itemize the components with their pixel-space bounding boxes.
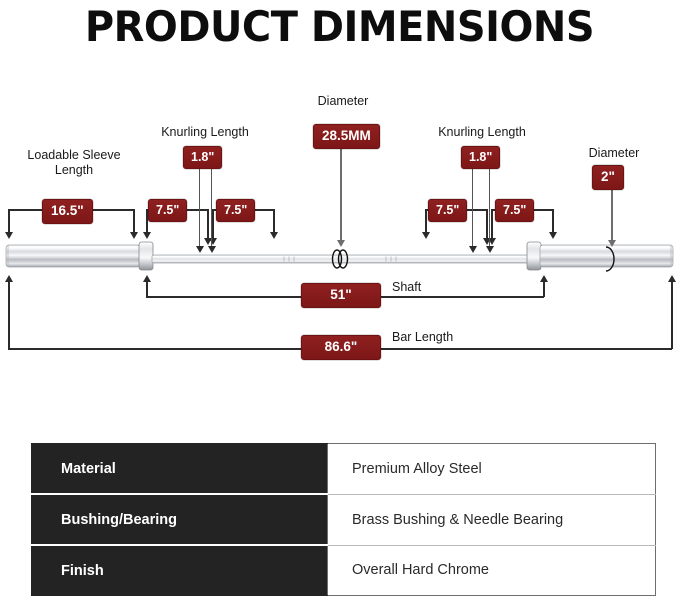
badge-knurl-left-inner: 7.5": [216, 199, 255, 222]
dim-ext-shaft-left: [146, 280, 148, 297]
leader-line-sleeve-diameter: [611, 189, 613, 244]
table-row: Bushing/Bearing Brass Bushing & Needle B…: [31, 494, 656, 545]
spec-label-material: Material: [31, 444, 328, 495]
dim-arrow-bar-left: [5, 275, 13, 282]
table-row: Material Premium Alloy Steel: [31, 444, 656, 495]
specifications-table: Material Premium Alloy Steel Bushing/Bea…: [31, 443, 656, 596]
spec-value-material: Premium Alloy Steel: [328, 444, 656, 495]
label-diameter-shaft: Diameter: [302, 94, 384, 109]
badge-center-knurl-left: 1.8": [183, 146, 222, 169]
badge-center-knurl-right: 1.8": [461, 146, 500, 169]
dim-arrow-kl-inner-right: [270, 232, 278, 239]
spec-value-bushing-bearing: Brass Bushing & Needle Bearing: [328, 494, 656, 545]
label-loadable-sleeve-length: Loadable Sleeve Length: [10, 148, 138, 178]
dim-ext-bar-right: [671, 280, 673, 349]
label-line-2: Length: [55, 163, 93, 177]
dim-arrow-ck-right-b: [486, 246, 494, 253]
dim-arrow-ck-right-a: [469, 246, 477, 253]
leader-arrow-sleeve-diameter: [608, 240, 616, 247]
dim-ext-ck-right-a: [472, 168, 473, 250]
dim-arrow-shaft-left: [143, 275, 151, 282]
dim-arrow-kl-outer-left: [143, 232, 151, 239]
badge-loadable-sleeve-length: 16.5": [42, 199, 93, 224]
badge-knurl-right-inner: 7.5": [428, 199, 467, 222]
badge-shaft-length: 51": [301, 283, 381, 308]
product-dimensions-diagram: Loadable Sleeve Length Knurling Length K…: [0, 0, 679, 430]
label-diameter-sleeve: Diameter: [573, 146, 655, 161]
dim-arrow-ck-left-a: [196, 246, 204, 253]
dim-arrow-shaft-right: [540, 275, 548, 282]
dim-arrow-kl-inner-left: [209, 238, 217, 245]
dim-ext-shaft-right: [543, 280, 545, 297]
table-row: Finish Overall Hard Chrome: [31, 545, 656, 596]
dim-arrow-kr-outer-right: [549, 232, 557, 239]
dim-ext-ck-right-b: [489, 168, 490, 250]
dim-arrow-loadable-right: [130, 232, 138, 239]
label-knurling-length-left: Knurling Length: [148, 125, 262, 140]
badge-bar-length: 86.6": [301, 335, 381, 360]
label-shaft: Shaft: [392, 280, 421, 295]
spec-label-bushing-bearing: Bushing/Bearing: [31, 494, 328, 545]
label-knurling-length-right: Knurling Length: [425, 125, 539, 140]
badge-knurl-right-outer: 7.5": [495, 199, 534, 222]
dim-arrow-ck-left-b: [208, 246, 216, 253]
spec-value-finish: Overall Hard Chrome: [328, 545, 656, 596]
dim-arrow-bar-right: [668, 275, 676, 282]
dim-ext-ck-left-a: [199, 168, 200, 250]
dim-ext-bar-left: [8, 280, 10, 349]
leader-line-shaft-diameter: [340, 147, 342, 244]
badge-shaft-diameter: 28.5MM: [313, 124, 380, 149]
label-bar-length: Bar Length: [392, 330, 453, 345]
dim-arrow-loadable-left: [5, 232, 13, 239]
badge-knurl-left-outer: 7.5": [148, 199, 187, 222]
dim-arrow-kr-inner-left: [422, 232, 430, 239]
leader-arrow-shaft-diameter: [337, 240, 345, 247]
spec-label-finish: Finish: [31, 545, 328, 596]
dim-ext-ck-left-b: [211, 168, 212, 250]
label-line-1: Loadable Sleeve: [27, 148, 120, 162]
badge-sleeve-diameter: 2": [592, 165, 624, 190]
